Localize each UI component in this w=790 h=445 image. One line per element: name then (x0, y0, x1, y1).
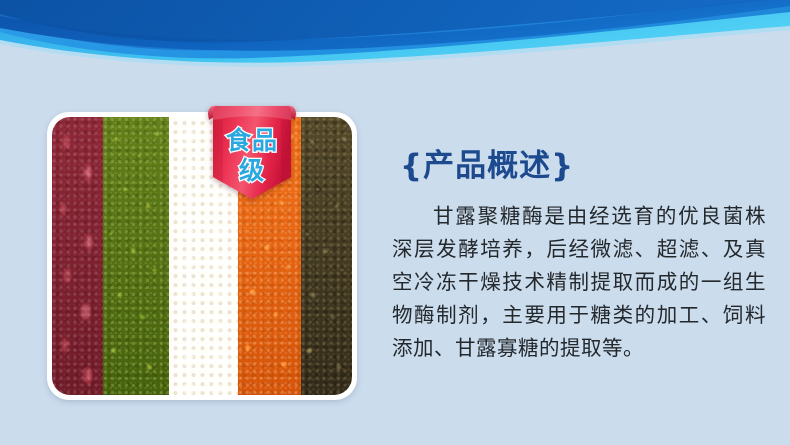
bean-band-dark-speckled-lentils (301, 117, 352, 395)
product-overview-section: {产品概述} 甘露聚糖酶是由经选育的优良菌株深层发酵培养，后经微滤、超滤、及真空… (392, 146, 770, 365)
product-description-paragraph: 甘露聚糖酶是由经选育的优良菌株深层发酵培养，后经微滤、超滤、及真空冷冻干燥技术精… (392, 200, 766, 365)
bean-band-green-mung-beans (103, 117, 169, 395)
top-banner (0, 0, 790, 70)
food-grade-ribbon-badge: 食品 级 (206, 104, 298, 204)
section-title: {产品概述} (400, 146, 770, 186)
banner-waves (0, 0, 790, 70)
ribbon-shade-right (281, 120, 291, 183)
product-photo (52, 117, 352, 395)
ribbon-shade-left (213, 120, 223, 183)
product-image-card (47, 112, 357, 400)
ribbon-body (213, 106, 291, 199)
bean-band-red-kidney-beans (52, 117, 103, 395)
ribbon-shape (206, 104, 298, 204)
